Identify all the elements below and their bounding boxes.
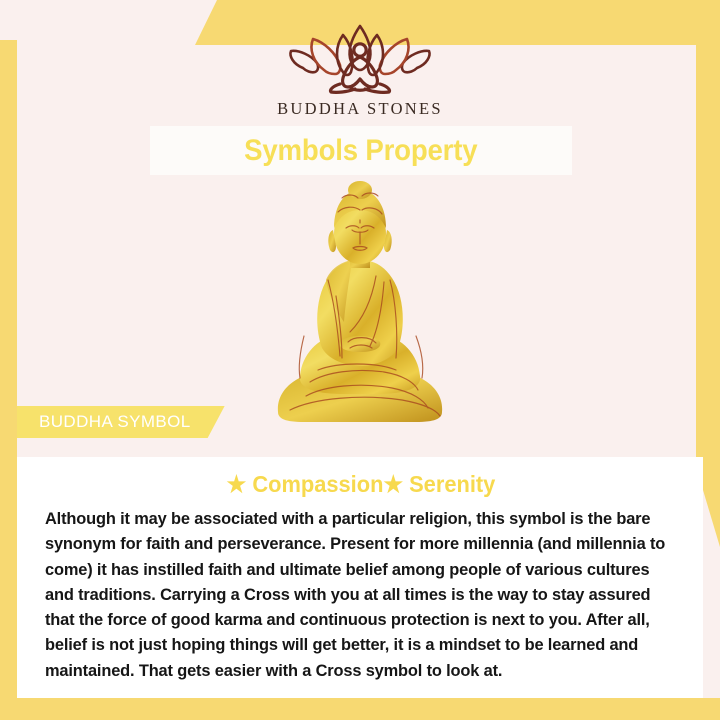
decorative-band-bottom: [0, 698, 720, 720]
brand-logo: BUDDHA STONES: [0, 22, 720, 119]
poster-root: BUDDHA STONES Symbols Property: [0, 0, 720, 720]
decorative-band-left: [0, 40, 17, 720]
brand-name: BUDDHA STONES: [277, 99, 443, 119]
title-plate: Symbols Property: [150, 126, 572, 175]
seated-buddha-statue: [266, 176, 454, 426]
content-card: ★ Compassion★ Serenity Although it may b…: [17, 457, 703, 698]
content-headline: ★ Compassion★ Serenity: [61, 471, 661, 498]
content-body: Although it may be associated with a par…: [45, 507, 677, 684]
page-title: Symbols Property: [244, 134, 477, 168]
buddha-symbol-tag-label: BUDDHA SYMBOL: [39, 412, 191, 432]
buddha-symbol-tag: BUDDHA SYMBOL: [17, 406, 225, 438]
lotus-meditation-icon: [285, 22, 435, 94]
